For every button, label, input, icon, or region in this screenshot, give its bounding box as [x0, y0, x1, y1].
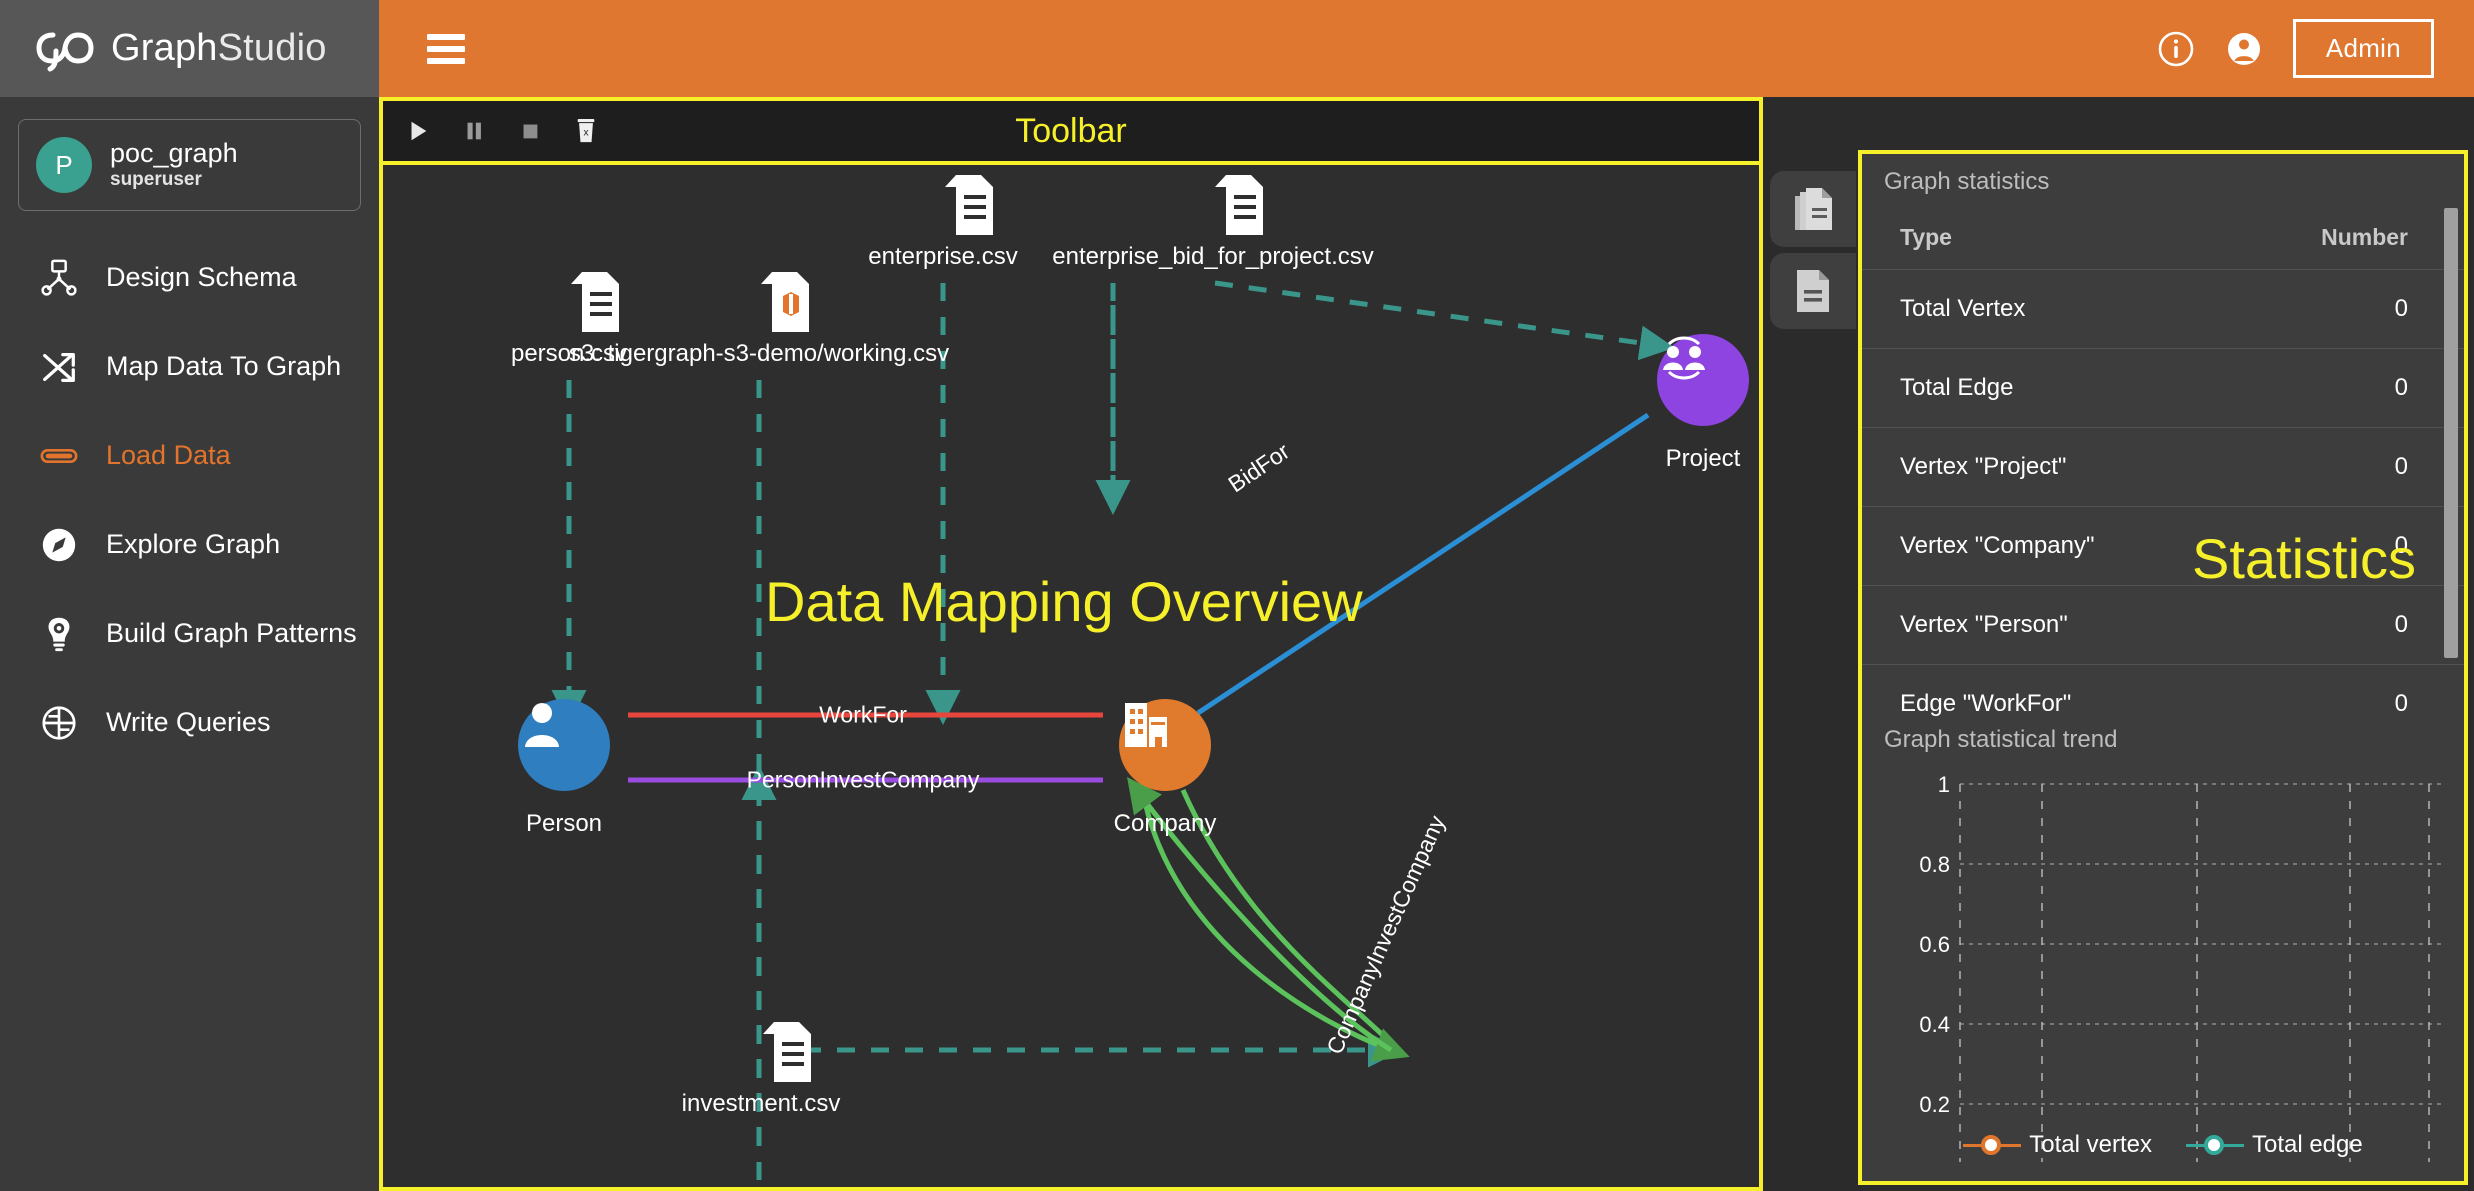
legend-marker-total-vertex: [1963, 1135, 2021, 1155]
sidebar-item-label: Load Data: [106, 440, 231, 471]
files-stack-icon: [1792, 186, 1834, 232]
sidebar-item-map-data-to-graph[interactable]: Map Data To Graph: [0, 322, 379, 411]
stats-title: Graph statistics: [1862, 154, 2464, 206]
sidebar-item-explore-graph[interactable]: Explore Graph: [0, 500, 379, 589]
svg-text:0.6: 0.6: [1919, 932, 1950, 957]
vertex-node-person[interactable]: [518, 699, 610, 791]
stop-icon[interactable]: [517, 118, 543, 144]
sidebar-item-label: Map Data To Graph: [106, 351, 341, 382]
legend-item-total-edge[interactable]: Total edge: [2186, 1131, 2363, 1159]
file-label: s3: tigergraph-s3-demo/working.csv: [569, 340, 949, 368]
column-header-number: Number: [2293, 206, 2464, 270]
stat-number: 0: [2293, 349, 2464, 428]
lightbulb-icon: [38, 613, 80, 655]
sidebar-item-label: Design Schema: [106, 262, 297, 293]
person-icon: [518, 699, 566, 751]
data-mapping-canvas[interactable]: person.csv s3: tigergraph-s3-demo/workin…: [379, 165, 1763, 1191]
stats-scrollbar[interactable]: [2444, 208, 2458, 658]
vertex-label: Project: [1666, 445, 1741, 473]
graph-statistics-table: Type Number Total Vertex 0 Total Edge 0 …: [1862, 206, 2464, 716]
trash-x-icon[interactable]: x: [573, 118, 599, 144]
side-rail: [1770, 165, 1860, 1191]
graphstudio-app: GraphStudio Admin P poc_graph s: [0, 0, 2474, 1191]
data-files-button[interactable]: [1770, 171, 1856, 247]
log-file-button[interactable]: [1770, 253, 1856, 329]
toolbar-annotation: Toolbar: [1015, 112, 1127, 151]
sidebar-item-write-queries[interactable]: Write Queries: [0, 678, 379, 767]
graph-role: superuser: [110, 169, 238, 192]
sidebar: P poc_graph superuser Desi: [0, 97, 379, 1191]
sidebar-item-design-schema[interactable]: Design Schema: [0, 233, 379, 322]
svg-text:0.8: 0.8: [1919, 852, 1950, 877]
user-account-icon[interactable]: [2225, 30, 2263, 68]
trend-title: Graph statistical trend: [1862, 716, 2464, 758]
vertex-label: Person: [526, 810, 602, 838]
trend-chart-svg: 1 0.8 0.6 0.4 0.2 0 14:43:44 14:44:00 14…: [1872, 762, 2472, 1162]
toolbar: x Toolbar: [379, 97, 1763, 165]
current-graph-card[interactable]: P poc_graph superuser: [18, 119, 361, 211]
graph-name: poc_graph: [110, 138, 238, 169]
table-row[interactable]: Vertex "Person" 0: [1862, 586, 2464, 665]
compass-icon: [38, 524, 80, 566]
legend-marker-total-edge: [2186, 1135, 2244, 1155]
legend-label: Total vertex: [2029, 1131, 2152, 1159]
table-row[interactable]: Total Vertex 0: [1862, 270, 2464, 349]
top-bar: Admin: [379, 0, 2474, 97]
stat-type: Edge "WorkFor": [1862, 665, 2293, 717]
stats-annotation: Statistics: [2192, 526, 2416, 591]
svg-text:x: x: [583, 128, 588, 139]
info-circle-icon[interactable]: [2157, 30, 2195, 68]
table-row[interactable]: Total Edge 0: [1862, 349, 2464, 428]
stat-type: Total Vertex: [1862, 270, 2293, 349]
file-label: enterprise.csv: [868, 243, 1017, 271]
svg-text:1: 1: [1938, 772, 1950, 797]
play-icon[interactable]: [405, 118, 431, 144]
building-icon: [1119, 699, 1173, 753]
vertex-node-company[interactable]: [1119, 699, 1211, 791]
admin-button[interactable]: Admin: [2293, 19, 2434, 78]
sidebar-item-label: Explore Graph: [106, 529, 280, 560]
stats-table-container[interactable]: Type Number Total Vertex 0 Total Edge 0 …: [1862, 206, 2464, 716]
edge-label-workfor: WorkFor: [819, 702, 907, 729]
vertex-label: Company: [1114, 810, 1217, 838]
sidebar-item-label: Build Graph Patterns: [106, 618, 357, 649]
graph-statistics-panel: Graph statistics Type Number Total Verte…: [1858, 150, 2468, 1185]
stat-number: 0: [2293, 665, 2464, 717]
query-globe-icon: [38, 702, 80, 744]
stat-type: Vertex "Person": [1862, 586, 2293, 665]
column-header-type: Type: [1862, 206, 2293, 270]
shuffle-icon: [38, 346, 80, 388]
graph-statistical-trend-chart[interactable]: 1 0.8 0.6 0.4 0.2 0 14:43:44 14:44:00 14…: [1872, 762, 2454, 1167]
legend-label: Total edge: [2252, 1131, 2363, 1159]
table-row[interactable]: Vertex "Project" 0: [1862, 428, 2464, 507]
graph-avatar: P: [36, 137, 92, 193]
stat-type: Vertex "Project": [1862, 428, 2293, 507]
legend-item-total-vertex[interactable]: Total vertex: [1963, 1131, 2152, 1159]
table-header-row: Type Number: [1862, 206, 2464, 270]
schema-icon: [38, 257, 80, 299]
svg-text:0.2: 0.2: [1919, 1092, 1950, 1117]
team-icon: [1657, 334, 1711, 382]
edge-label-personinvestcompany: PersonInvestCompany: [747, 767, 980, 794]
infinity-logo-icon: [36, 26, 94, 72]
hamburger-menu-icon[interactable]: [427, 34, 465, 64]
pause-icon[interactable]: [461, 118, 487, 144]
brand-name: GraphStudio: [111, 27, 327, 70]
load-pill-icon: [38, 435, 80, 477]
top-bar-actions: Admin: [2157, 19, 2474, 78]
brand-logo[interactable]: GraphStudio: [0, 0, 379, 97]
stat-number: 0: [2293, 270, 2464, 349]
table-row[interactable]: Edge "WorkFor" 0: [1862, 665, 2464, 717]
file-label: investment.csv: [682, 1090, 841, 1118]
sidebar-nav: Design Schema Map Data To Graph: [0, 233, 379, 767]
stats-table-body: Total Vertex 0 Total Edge 0 Vertex "Proj…: [1862, 270, 2464, 717]
sidebar-item-label: Write Queries: [106, 707, 271, 738]
chart-legend: Total vertex Total edge: [1872, 1131, 2454, 1159]
file-label: enterprise_bid_for_project.csv: [1052, 243, 1374, 271]
vertex-node-project[interactable]: [1657, 334, 1749, 426]
file-lines-icon: [1793, 268, 1833, 314]
sidebar-item-build-graph-patterns[interactable]: Build Graph Patterns: [0, 589, 379, 678]
svg-text:0.4: 0.4: [1919, 1012, 1950, 1037]
graph-info: poc_graph superuser: [110, 138, 238, 192]
sidebar-item-load-data[interactable]: Load Data: [0, 411, 379, 500]
stat-number: 0: [2293, 428, 2464, 507]
canvas-annotation: Data Mapping Overview: [765, 569, 1363, 634]
toolbar-buttons: x: [383, 118, 599, 144]
stat-number: 0: [2293, 586, 2464, 665]
stat-type: Total Edge: [1862, 349, 2293, 428]
